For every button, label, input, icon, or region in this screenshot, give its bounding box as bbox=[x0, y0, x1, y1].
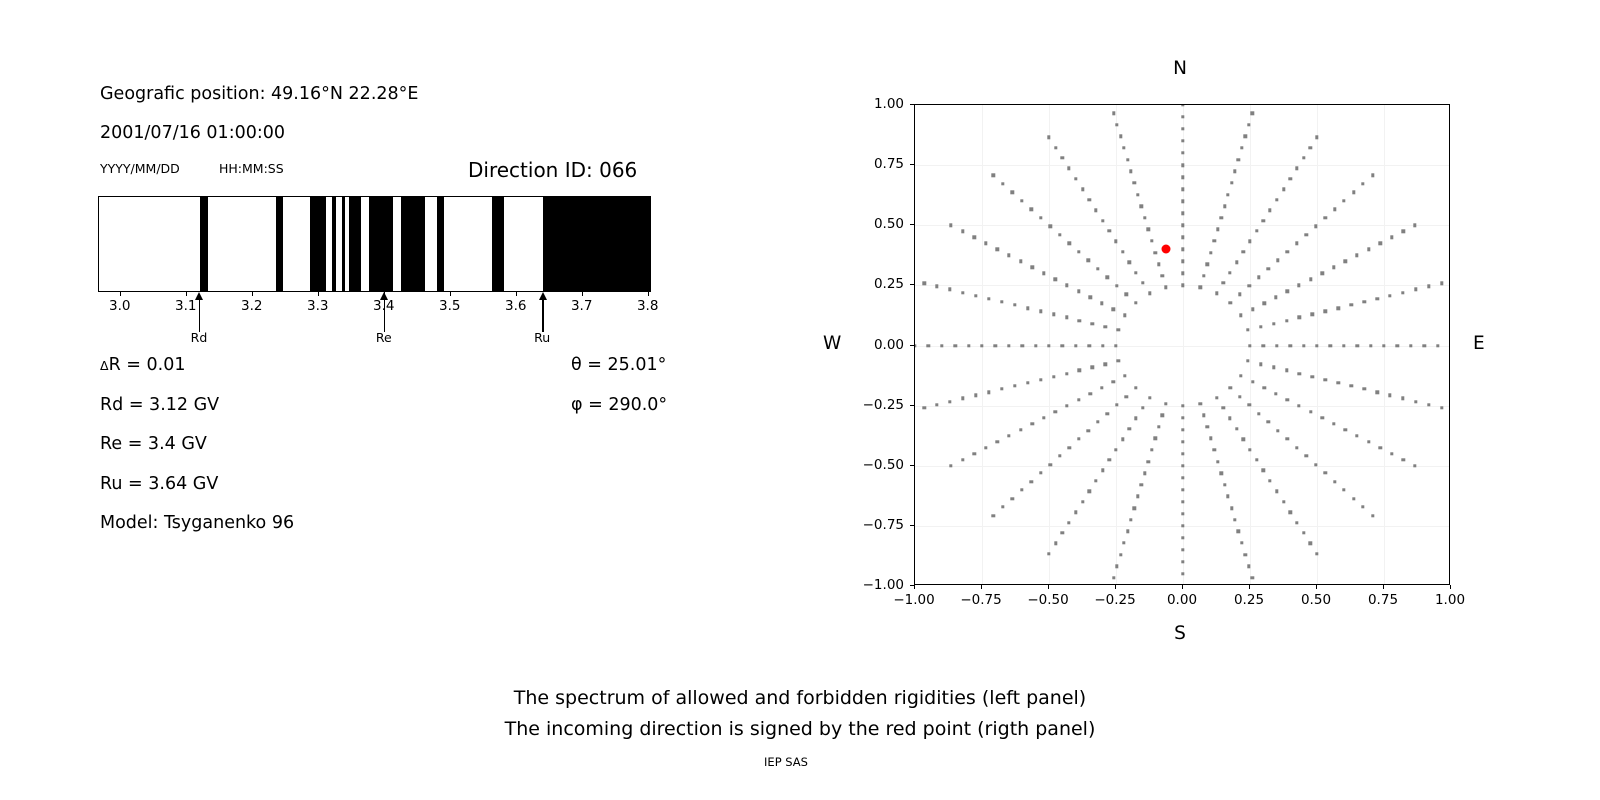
direction-dot bbox=[1181, 548, 1184, 551]
direction-dot bbox=[1251, 308, 1254, 311]
direction-dot bbox=[1216, 460, 1219, 463]
compass-south-label: S bbox=[1174, 623, 1186, 644]
direction-dot bbox=[1123, 314, 1126, 317]
direction-dot bbox=[1047, 344, 1050, 347]
direction-dot bbox=[1096, 420, 1099, 423]
direction-dot bbox=[1311, 313, 1314, 316]
direction-dot bbox=[1309, 542, 1312, 545]
direction-dot bbox=[1181, 104, 1184, 107]
direction-dot bbox=[1282, 500, 1285, 503]
direction-dot bbox=[1379, 446, 1382, 449]
direction-dot bbox=[1065, 316, 1068, 319]
direction-dot bbox=[1181, 416, 1184, 419]
direction-dot bbox=[1091, 366, 1094, 369]
direction-dot bbox=[1248, 403, 1251, 406]
polar-y-tick-label: 0.00 bbox=[846, 337, 904, 353]
direction-dot bbox=[1238, 395, 1241, 398]
direction-dot bbox=[1067, 167, 1070, 170]
date-format-hint: YYYY/MM/DD bbox=[100, 161, 180, 176]
direction-dot bbox=[1100, 302, 1103, 305]
direction-dot bbox=[1247, 123, 1250, 126]
direction-dot bbox=[1297, 284, 1300, 287]
direction-dot bbox=[1054, 278, 1057, 281]
direction-dot bbox=[1181, 488, 1184, 491]
direction-dot bbox=[987, 297, 990, 300]
rigidity-spectrum-panel bbox=[98, 196, 651, 292]
direction-dot bbox=[1297, 404, 1300, 407]
direction-dot bbox=[1427, 403, 1430, 406]
direction-dot bbox=[1337, 381, 1340, 384]
direction-dot bbox=[1134, 386, 1137, 389]
polar-y-tick-label: 0.50 bbox=[846, 216, 904, 232]
direction-dot bbox=[1288, 510, 1291, 513]
direction-dot bbox=[1154, 251, 1157, 254]
param-ru: Ru = 3.64 GV bbox=[100, 474, 218, 494]
direction-dot bbox=[1251, 576, 1254, 579]
direction-dot bbox=[961, 397, 964, 400]
direction-dot bbox=[949, 464, 952, 467]
direction-dot bbox=[1223, 204, 1226, 207]
direction-dot bbox=[1440, 406, 1443, 409]
direction-dot bbox=[1352, 191, 1355, 194]
direction-dot bbox=[1275, 198, 1278, 201]
direction-dot bbox=[1148, 396, 1151, 399]
forbidden-band bbox=[369, 197, 393, 291]
marker-label: Rd bbox=[191, 330, 208, 345]
direction-dot bbox=[992, 514, 995, 517]
direction-dot bbox=[1115, 564, 1118, 567]
direction-dot bbox=[996, 248, 999, 251]
direction-dot bbox=[1013, 303, 1016, 306]
direction-dot bbox=[1087, 259, 1090, 262]
direction-dot bbox=[972, 236, 975, 239]
direction-dot bbox=[1275, 344, 1278, 347]
direction-dot bbox=[1248, 284, 1251, 287]
direction-dot bbox=[1030, 266, 1033, 269]
polar-y-tick-label: 1.00 bbox=[846, 96, 904, 112]
direction-dot bbox=[1229, 301, 1232, 304]
direction-dot bbox=[1181, 272, 1184, 275]
direction-dot bbox=[1101, 344, 1104, 347]
direction-dot bbox=[1215, 396, 1218, 399]
direction-dot bbox=[1164, 402, 1167, 405]
direction-dot bbox=[1248, 344, 1251, 347]
direction-dot bbox=[984, 242, 987, 245]
direction-dot bbox=[1011, 497, 1014, 500]
direction-dot bbox=[1148, 292, 1151, 295]
direction-dot bbox=[1237, 530, 1240, 533]
direction-dot bbox=[1058, 233, 1061, 236]
direction-dot bbox=[1074, 510, 1077, 513]
direction-dot bbox=[1422, 344, 1425, 347]
direction-dot bbox=[1275, 490, 1278, 493]
direction-dot bbox=[1363, 387, 1366, 390]
forbidden-band bbox=[492, 197, 504, 291]
direction-dot bbox=[1115, 123, 1118, 126]
direction-dot bbox=[1206, 425, 1209, 428]
forbidden-band bbox=[437, 197, 445, 291]
direction-dot bbox=[1068, 242, 1071, 245]
polar-x-tick-label: 0.00 bbox=[1167, 592, 1197, 608]
direction-dot bbox=[1355, 344, 1358, 347]
direction-dot bbox=[1352, 497, 1355, 500]
direction-dot bbox=[1272, 322, 1275, 325]
direction-dot bbox=[940, 344, 943, 347]
direction-dot bbox=[1042, 416, 1045, 419]
direction-dot bbox=[1315, 344, 1318, 347]
direction-dot bbox=[1333, 208, 1336, 211]
direction-dot bbox=[1181, 404, 1184, 407]
direction-dot bbox=[1209, 251, 1212, 254]
direction-dot bbox=[1309, 146, 1312, 149]
direction-dot bbox=[1140, 204, 1143, 207]
direction-dot bbox=[1286, 250, 1289, 253]
polar-y-tick bbox=[910, 164, 914, 165]
direction-dot bbox=[1078, 369, 1081, 372]
polar-x-tick-label: 0.50 bbox=[1301, 592, 1331, 608]
axis-tick bbox=[516, 292, 517, 296]
direction-dot bbox=[1344, 260, 1347, 263]
direction-dot bbox=[1112, 576, 1115, 579]
direction-dot bbox=[1026, 381, 1029, 384]
direction-dot bbox=[1388, 294, 1391, 297]
direction-dot bbox=[1020, 199, 1023, 202]
direction-dot bbox=[1268, 208, 1271, 211]
direction-dot bbox=[1181, 127, 1184, 130]
direction-dot bbox=[1251, 380, 1254, 383]
direction-dot bbox=[1371, 174, 1374, 177]
direction-dot bbox=[1274, 296, 1277, 299]
direction-dot bbox=[1124, 293, 1127, 296]
direction-dot bbox=[927, 344, 930, 347]
direction-dot bbox=[1244, 135, 1247, 138]
direction-dot bbox=[1239, 314, 1242, 317]
direction-dot bbox=[1228, 271, 1231, 274]
direction-dot bbox=[1115, 284, 1118, 287]
direction-dot bbox=[1141, 281, 1144, 284]
direction-dot bbox=[1147, 228, 1150, 231]
axis-tick bbox=[582, 292, 583, 296]
param-model: Model: Tsyganenko 96 bbox=[100, 513, 294, 533]
polar-y-tick bbox=[910, 284, 914, 285]
direction-dot bbox=[1128, 427, 1131, 430]
direction-dot bbox=[1382, 344, 1385, 347]
direction-dot bbox=[1112, 308, 1115, 311]
direction-dot bbox=[1213, 448, 1216, 451]
direction-dot bbox=[1379, 242, 1382, 245]
direction-dot bbox=[1101, 469, 1104, 472]
direction-dot bbox=[1081, 500, 1084, 503]
direction-dot bbox=[1314, 225, 1317, 228]
direction-dot bbox=[1332, 266, 1335, 269]
direction-scatter-plot bbox=[914, 104, 1450, 585]
direction-dot bbox=[1402, 230, 1405, 233]
direction-dot bbox=[1088, 296, 1091, 299]
direction-dot bbox=[1019, 428, 1022, 431]
direction-dot bbox=[1157, 425, 1160, 428]
direction-dot bbox=[1390, 236, 1393, 239]
direction-dot bbox=[1112, 111, 1115, 114]
polar-y-tick-label: 0.25 bbox=[846, 276, 904, 292]
direction-dot bbox=[1324, 378, 1327, 381]
direction-dot bbox=[1114, 344, 1117, 347]
direction-dot bbox=[1181, 464, 1184, 467]
direction-dot bbox=[1181, 163, 1184, 166]
direction-dot bbox=[1199, 402, 1202, 405]
direction-dot bbox=[1181, 139, 1184, 142]
direction-dot bbox=[949, 224, 952, 227]
direction-dot bbox=[1272, 366, 1275, 369]
direction-dot bbox=[1414, 288, 1417, 291]
direction-dot bbox=[1119, 135, 1122, 138]
direction-dot bbox=[1295, 521, 1298, 524]
direction-dot bbox=[1304, 233, 1307, 236]
direction-dot bbox=[1181, 224, 1184, 227]
direction-dot bbox=[1054, 410, 1057, 413]
direction-dot bbox=[1129, 518, 1132, 521]
direction-scatter-panel: −1.00−0.75−0.50−0.250.000.250.500.751.00… bbox=[914, 104, 1450, 585]
direction-dot bbox=[1096, 267, 1099, 270]
forbidden-band bbox=[310, 197, 326, 291]
direction-dot bbox=[1202, 413, 1205, 416]
caption-line-1: The spectrum of allowed and forbidden ri… bbox=[514, 687, 1086, 709]
direction-dot bbox=[1121, 438, 1124, 441]
direction-dot bbox=[1390, 452, 1393, 455]
direction-dot bbox=[1001, 182, 1004, 185]
direction-dot bbox=[1150, 448, 1153, 451]
direction-dot bbox=[1030, 422, 1033, 425]
direction-dot bbox=[1295, 167, 1298, 170]
direction-dot bbox=[1233, 170, 1236, 173]
direction-dot bbox=[1147, 460, 1150, 463]
direction-dot bbox=[1286, 290, 1289, 293]
direction-dot bbox=[1221, 281, 1224, 284]
direction-dot bbox=[1105, 276, 1108, 279]
direction-dot bbox=[1295, 242, 1298, 245]
direction-id-label: Direction ID: 066 bbox=[468, 158, 637, 182]
direction-dot bbox=[1440, 282, 1443, 285]
direction-dot bbox=[1427, 285, 1430, 288]
direction-dot bbox=[1020, 344, 1023, 347]
direction-dot bbox=[1052, 313, 1055, 316]
direction-dot bbox=[1248, 448, 1251, 451]
polar-x-tick bbox=[1115, 585, 1116, 589]
direction-dot bbox=[1013, 384, 1016, 387]
polar-y-tick-label: −0.75 bbox=[846, 517, 904, 533]
direction-dot bbox=[1000, 300, 1003, 303]
direction-dot bbox=[1323, 216, 1326, 219]
param-re: Re = 3.4 GV bbox=[100, 434, 207, 454]
direction-dot bbox=[1181, 248, 1184, 251]
direction-dot bbox=[1401, 397, 1404, 400]
direction-dot bbox=[1315, 552, 1318, 555]
direction-dot bbox=[1257, 412, 1260, 415]
direction-dot bbox=[1134, 301, 1137, 304]
direction-dot bbox=[1088, 392, 1091, 395]
direction-dot bbox=[1087, 198, 1090, 201]
direction-dot bbox=[1276, 259, 1279, 262]
direction-dot bbox=[1112, 380, 1115, 383]
polar-y-tick-label: 0.75 bbox=[846, 156, 904, 172]
direction-dot bbox=[1257, 276, 1260, 279]
direction-dot bbox=[1209, 437, 1212, 440]
direction-dot bbox=[1342, 488, 1345, 491]
direction-dot bbox=[1122, 541, 1125, 544]
direction-dot bbox=[1329, 344, 1332, 347]
direction-dot bbox=[1311, 375, 1314, 378]
direction-dot bbox=[1140, 483, 1143, 486]
direction-dot bbox=[1388, 394, 1391, 397]
axis-tick-label: 3.3 bbox=[307, 298, 328, 314]
polar-x-tick-label: −0.75 bbox=[960, 592, 1001, 608]
direction-dot bbox=[1181, 151, 1184, 154]
direction-dot bbox=[1154, 437, 1157, 440]
param-delta-r-value: R = 0.01 bbox=[109, 355, 186, 375]
polar-y-tick-label: −0.50 bbox=[846, 457, 904, 473]
direction-dot bbox=[1262, 344, 1265, 347]
direction-dot bbox=[1047, 136, 1050, 139]
direction-dot bbox=[1247, 564, 1250, 567]
direction-dot bbox=[1402, 458, 1405, 461]
polar-x-tick-label: −0.50 bbox=[1027, 592, 1068, 608]
direction-dot bbox=[1001, 505, 1004, 508]
direction-dot bbox=[1007, 434, 1010, 437]
direction-dot bbox=[1052, 375, 1055, 378]
direction-dot bbox=[994, 344, 997, 347]
direction-dot bbox=[1342, 344, 1345, 347]
direction-dot bbox=[1181, 572, 1184, 575]
param-delta-r: ΔR = 0.01 bbox=[100, 355, 185, 375]
direction-dot bbox=[1375, 297, 1378, 300]
direction-dot bbox=[1141, 406, 1144, 409]
direction-dot bbox=[1181, 536, 1184, 539]
forbidden-band bbox=[200, 197, 208, 291]
rigidity-axis: 3.03.13.23.33.43.53.63.73.8RdReRu bbox=[98, 292, 651, 352]
direction-dot bbox=[1230, 506, 1233, 509]
direction-dot bbox=[1042, 272, 1045, 275]
direction-dot bbox=[1314, 463, 1317, 466]
direction-dot bbox=[961, 230, 964, 233]
direction-dot bbox=[1215, 292, 1218, 295]
direction-dot bbox=[1226, 495, 1229, 498]
direction-dot bbox=[1248, 240, 1251, 243]
direction-dot bbox=[1026, 306, 1029, 309]
polar-y-tick bbox=[910, 224, 914, 225]
param-phi: φ = 290.0° bbox=[571, 395, 667, 415]
direction-dot bbox=[1235, 427, 1238, 430]
direction-dot bbox=[1067, 521, 1070, 524]
direction-dot bbox=[1074, 344, 1077, 347]
direction-dot bbox=[1007, 254, 1010, 257]
direction-dot bbox=[1007, 344, 1010, 347]
param-rd: Rd = 3.12 GV bbox=[100, 395, 219, 415]
direction-dot bbox=[1030, 480, 1033, 483]
direction-dot bbox=[974, 394, 977, 397]
direction-dot bbox=[1150, 239, 1153, 242]
direction-dot bbox=[1286, 398, 1289, 401]
direction-dot bbox=[1363, 300, 1366, 303]
direction-dot bbox=[1302, 531, 1305, 534]
polar-y-tick bbox=[910, 405, 914, 406]
direction-dot bbox=[961, 458, 964, 461]
footer-credit: IEP SAS bbox=[764, 755, 808, 769]
direction-dot bbox=[1104, 325, 1107, 328]
axis-tick bbox=[120, 292, 121, 296]
polar-x-tick-label: −1.00 bbox=[893, 592, 934, 608]
direction-dot bbox=[1436, 344, 1439, 347]
direction-dot bbox=[1034, 344, 1037, 347]
direction-dot bbox=[1206, 262, 1209, 265]
direction-dot bbox=[1321, 416, 1324, 419]
direction-dot bbox=[1039, 471, 1042, 474]
direction-dot bbox=[1087, 429, 1090, 432]
direction-dot bbox=[1288, 177, 1291, 180]
direction-dot bbox=[1355, 434, 1358, 437]
direction-dot bbox=[1126, 158, 1129, 161]
direction-dot bbox=[1181, 452, 1184, 455]
direction-dot bbox=[1133, 181, 1136, 184]
direction-dot bbox=[1077, 437, 1080, 440]
direction-dot bbox=[1396, 344, 1399, 347]
polar-y-tick bbox=[910, 104, 914, 105]
direction-dot bbox=[1413, 224, 1416, 227]
direction-dot bbox=[1039, 216, 1042, 219]
direction-dot bbox=[1219, 472, 1222, 475]
direction-dot bbox=[1321, 272, 1324, 275]
compass-east-label: E bbox=[1473, 333, 1485, 354]
polar-y-tick bbox=[910, 525, 914, 526]
direction-dot bbox=[1181, 440, 1184, 443]
direction-dot bbox=[1181, 428, 1184, 431]
direction-dot bbox=[1242, 438, 1245, 441]
direction-dot bbox=[972, 452, 975, 455]
direction-dot bbox=[1115, 403, 1118, 406]
direction-dot bbox=[974, 294, 977, 297]
direction-dot bbox=[1337, 306, 1340, 309]
direction-dot bbox=[935, 285, 938, 288]
forbidden-band bbox=[276, 197, 284, 291]
direction-dot bbox=[953, 344, 956, 347]
direction-dot bbox=[1240, 146, 1243, 149]
direction-dot bbox=[1087, 344, 1090, 347]
direction-dot bbox=[1288, 344, 1291, 347]
direction-dot bbox=[980, 344, 983, 347]
direction-dot bbox=[961, 291, 964, 294]
forbidden-band bbox=[349, 197, 361, 291]
direction-dot bbox=[1030, 208, 1033, 211]
direction-dot bbox=[1074, 177, 1077, 180]
direction-dot bbox=[1251, 111, 1254, 114]
direction-dot bbox=[1094, 479, 1097, 482]
direction-dot bbox=[1061, 344, 1064, 347]
direction-dot bbox=[1332, 422, 1335, 425]
direction-dot bbox=[1223, 483, 1226, 486]
direction-dot bbox=[1333, 480, 1336, 483]
polar-x-tick-label: 0.25 bbox=[1234, 592, 1264, 608]
direction-dot bbox=[1128, 260, 1131, 263]
polar-x-tick bbox=[1316, 585, 1317, 589]
axis-tick-label: 3.0 bbox=[109, 298, 130, 314]
polar-x-tick bbox=[1249, 585, 1250, 589]
direction-dot bbox=[992, 174, 995, 177]
datetime-label: 2001/07/16 01:00:00 bbox=[100, 123, 285, 143]
direction-dot bbox=[1409, 344, 1412, 347]
direction-dot bbox=[1160, 413, 1163, 416]
direction-dot bbox=[1315, 136, 1318, 139]
axis-tick bbox=[252, 292, 253, 296]
direction-dot bbox=[914, 344, 917, 347]
direction-dot bbox=[935, 403, 938, 406]
